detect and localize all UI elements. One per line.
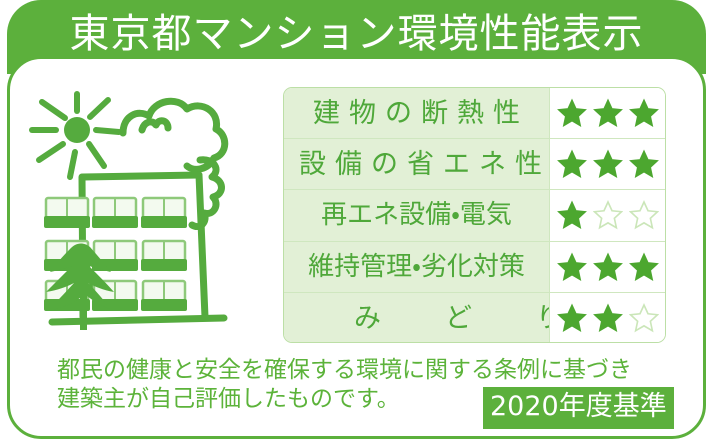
rating-label-maintenance-durability: 維持管理・劣化対策 bbox=[284, 242, 550, 292]
standard-year-badge: 2020年度基準 bbox=[483, 387, 674, 429]
star-filled-icon bbox=[593, 303, 623, 333]
star-filled-icon bbox=[593, 252, 623, 282]
star-filled-icon bbox=[593, 98, 623, 128]
table-row: 設備の省エネ性 bbox=[284, 139, 665, 190]
sun-icon bbox=[32, 94, 119, 177]
star-filled-icon bbox=[629, 98, 659, 128]
rating-stars-maintenance-durability bbox=[550, 242, 665, 292]
building-windows bbox=[46, 198, 185, 303]
star-filled-icon bbox=[557, 252, 587, 282]
star-filled-icon bbox=[593, 149, 623, 179]
table-row: 建物の断熱性 bbox=[284, 88, 665, 139]
star-filled-icon bbox=[557, 149, 587, 179]
page-title: 東京都マンション環境性能表示 bbox=[7, 6, 706, 62]
mansion-environmental-performance-label: 東京都マンション環境性能表示 bbox=[0, 0, 713, 445]
table-row: 再エネ設備・電気 bbox=[284, 190, 665, 241]
apartment-building-eco-illustration bbox=[22, 82, 277, 344]
rating-stars-insulation bbox=[550, 88, 665, 138]
star-empty-icon bbox=[629, 303, 659, 333]
ratings-table: 建物の断熱性 設備の省エネ性 再エネ設備・電気 維持 bbox=[283, 87, 666, 343]
star-filled-icon bbox=[629, 149, 659, 179]
rating-stars-greenery bbox=[550, 293, 665, 343]
rating-label-energy-saving: 設備の省エネ性 bbox=[284, 139, 550, 189]
footer-line-1: 都民の健康と安全を確保する環境に関する条例に基づき bbox=[57, 356, 657, 385]
star-filled-icon bbox=[629, 252, 659, 282]
table-row: 維持管理・劣化対策 bbox=[284, 242, 665, 293]
rating-label-renewable-energy: 再エネ設備・電気 bbox=[284, 190, 550, 240]
star-filled-icon bbox=[557, 200, 587, 230]
table-row: みどり bbox=[284, 293, 665, 343]
rating-label-insulation: 建物の断熱性 bbox=[284, 88, 550, 138]
rating-label-greenery: みどり bbox=[284, 293, 550, 343]
star-filled-icon bbox=[557, 98, 587, 128]
star-empty-icon bbox=[593, 200, 623, 230]
rating-stars-energy-saving bbox=[550, 139, 665, 189]
star-empty-icon bbox=[629, 200, 659, 230]
star-filled-icon bbox=[557, 303, 587, 333]
rating-stars-renewable-energy bbox=[550, 190, 665, 240]
